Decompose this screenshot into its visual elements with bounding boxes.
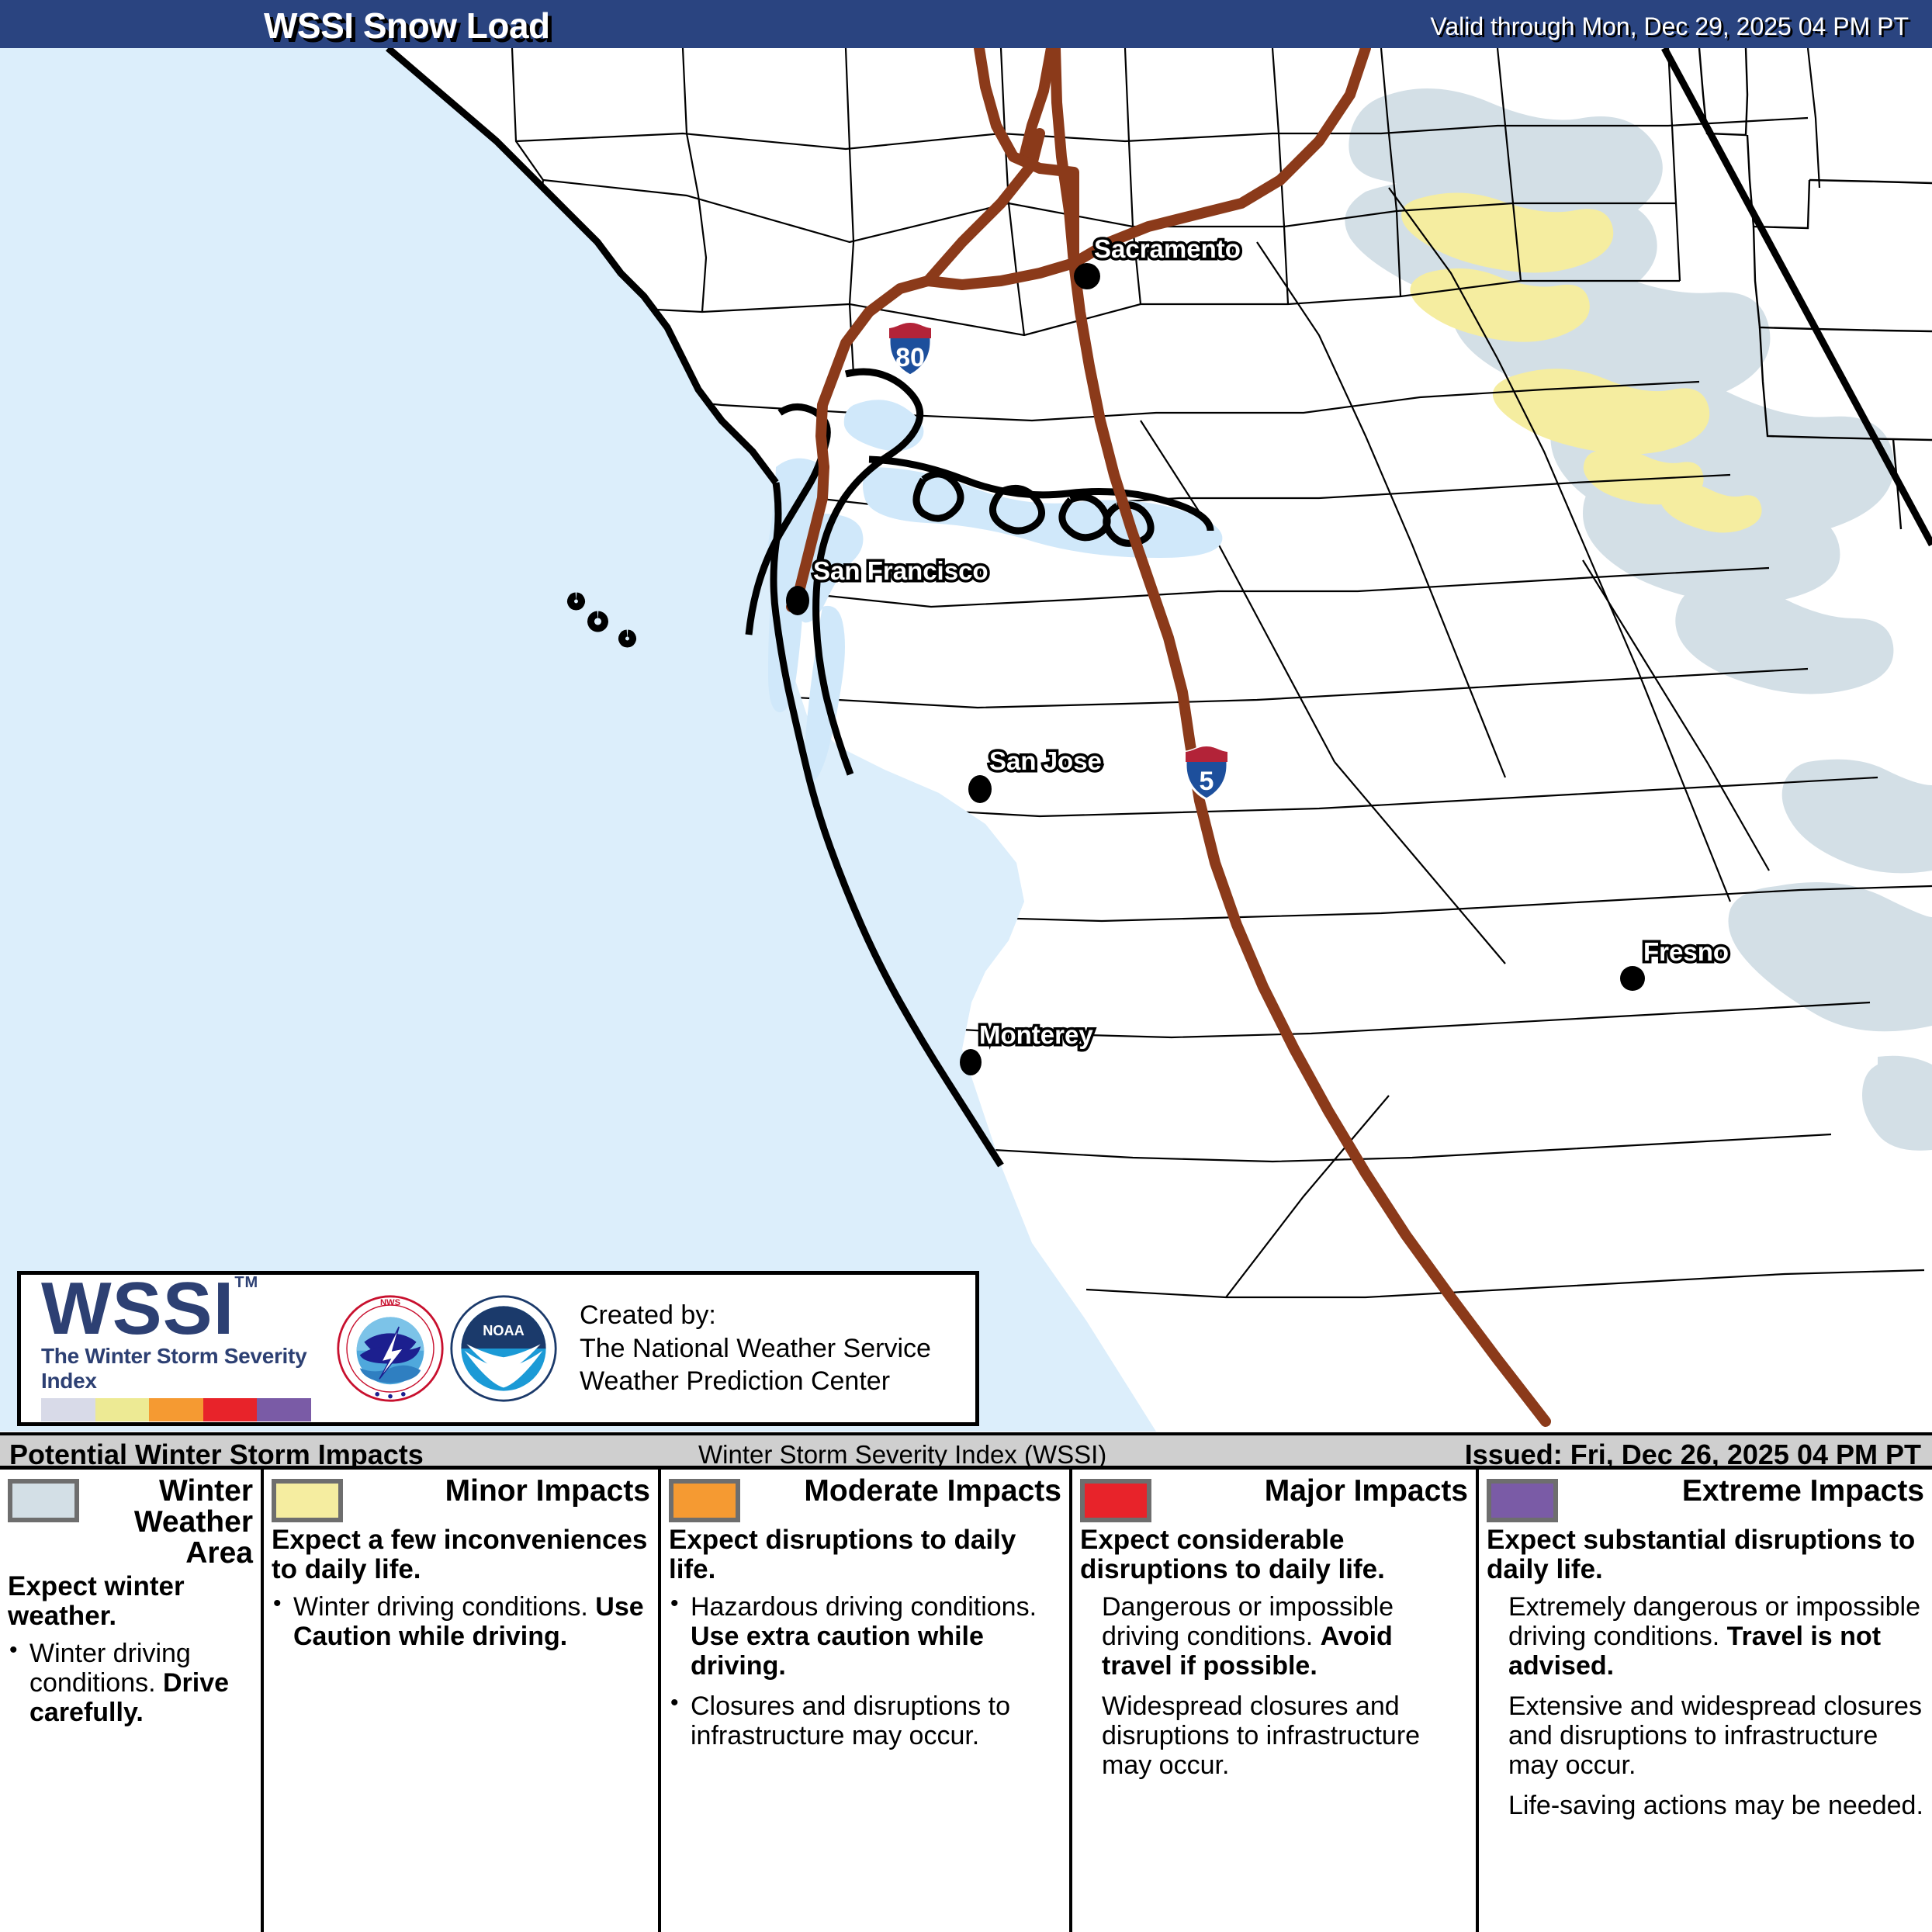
legend-title-major-impacts: Major Impacts bbox=[1159, 1476, 1468, 1507]
city-label-san-jose: San Jose bbox=[989, 746, 1102, 776]
city-label-sacramento: Sacramento bbox=[1094, 234, 1241, 264]
legend-title-minor-impacts: Minor Impacts bbox=[351, 1476, 650, 1507]
status-bar-title: Potential Winter Storm Impacts bbox=[9, 1439, 424, 1471]
legend-swatch-moderate-impacts bbox=[669, 1479, 740, 1522]
list-item: Extremely dangerous or impossible drivin… bbox=[1487, 1592, 1924, 1681]
list-item: Winter driving conditions. Use Caution w… bbox=[272, 1592, 650, 1651]
legend-swatch-major-impacts bbox=[1080, 1479, 1151, 1522]
status-bar: Potential Winter Storm Impacts Winter St… bbox=[0, 1432, 1932, 1470]
legend-bullets-winter-weather-area: Winter driving conditions. Drive careful… bbox=[8, 1639, 253, 1727]
list-item: Winter driving conditions. Drive careful… bbox=[8, 1639, 253, 1727]
legend-lead-minor-impacts: Expect a few inconveniences to daily lif… bbox=[272, 1525, 650, 1584]
city-dot-monterey bbox=[960, 1049, 982, 1075]
created-by-block: Created by: The National Weather Service… bbox=[558, 1299, 931, 1398]
scale-swatch-extreme bbox=[257, 1398, 311, 1421]
created-by-line-3: Weather Prediction Center bbox=[580, 1365, 931, 1398]
legend-title-moderate-impacts: Moderate Impacts bbox=[748, 1476, 1061, 1507]
interstate-shield-80[interactable]: 80 bbox=[886, 321, 934, 377]
scale-swatch-moderate bbox=[149, 1398, 203, 1421]
wssi-credit-box: WSSITM The Winter Storm Severity Index bbox=[17, 1271, 979, 1426]
svg-text:NWS: NWS bbox=[380, 1298, 401, 1307]
legend-column-moderate-impacts[interactable]: Moderate Impacts Expect disruptions to d… bbox=[661, 1470, 1072, 1932]
page-title: WSSI Snow Load bbox=[264, 5, 550, 47]
list-item: Extensive and widespread closures and di… bbox=[1487, 1691, 1924, 1780]
city-dot-sacramento bbox=[1074, 263, 1100, 289]
legend-title-extreme-impacts: Extreme Impacts bbox=[1566, 1476, 1924, 1507]
list-item: Hazardous driving conditions. Use extra … bbox=[669, 1592, 1061, 1681]
legend-bullets-minor-impacts: Winter driving conditions. Use Caution w… bbox=[272, 1592, 650, 1651]
legend-lead-moderate-impacts: Expect disruptions to daily life. bbox=[669, 1525, 1061, 1584]
legend-swatch-extreme-impacts bbox=[1487, 1479, 1558, 1522]
city-label-fresno: Fresno bbox=[1643, 937, 1729, 967]
shield-80-number: 80 bbox=[886, 343, 934, 373]
wssi-wordmark: WSSITM bbox=[41, 1276, 331, 1342]
legend-lead-extreme-impacts: Expect substantial disruptions to daily … bbox=[1487, 1525, 1924, 1584]
city-dot-san-jose bbox=[968, 775, 992, 803]
city-label-san-francisco: San Francisco bbox=[813, 556, 989, 586]
scale-swatch-minor bbox=[95, 1398, 150, 1421]
list-item: Life-saving actions may be needed. bbox=[1487, 1791, 1924, 1820]
trademark-mark: TM bbox=[234, 1274, 258, 1291]
legend-lead-major-impacts: Expect considerable disruptions to daily… bbox=[1080, 1525, 1468, 1584]
legend-column-minor-impacts[interactable]: Minor Impacts Expect a few inconvenience… bbox=[264, 1470, 661, 1932]
wssi-logo: WSSITM The Winter Storm Severity Index bbox=[21, 1276, 331, 1421]
legend-column-extreme-impacts[interactable]: Extreme Impacts Expect substantial disru… bbox=[1479, 1470, 1932, 1932]
legend-bullets-major-impacts: Dangerous or impossible driving conditio… bbox=[1080, 1592, 1468, 1780]
status-bar-subtitle: Winter Storm Severity Index (WSSI) bbox=[698, 1440, 1106, 1470]
map-geometry bbox=[0, 48, 1932, 1432]
agency-seals: NWS NOAA bbox=[331, 1294, 558, 1403]
svg-text:NOAA: NOAA bbox=[483, 1323, 525, 1338]
issued-timestamp: Issued: Fri, Dec 26, 2025 04 PM PT bbox=[1465, 1439, 1921, 1471]
noaa-seal-icon: NOAA bbox=[449, 1294, 558, 1403]
interstate-shield-5[interactable]: 5 bbox=[1182, 745, 1231, 801]
wssi-color-scale bbox=[41, 1398, 311, 1421]
legend-bullets-extreme-impacts: Extremely dangerous or impossible drivin… bbox=[1487, 1592, 1924, 1821]
list-item: Dangerous or impossible driving conditio… bbox=[1080, 1592, 1468, 1681]
legend-bullets-moderate-impacts: Hazardous driving conditions. Use extra … bbox=[669, 1592, 1061, 1750]
list-item: Widespread closures and disruptions to i… bbox=[1080, 1691, 1468, 1780]
wssi-tagline: The Winter Storm Severity Index bbox=[41, 1344, 331, 1394]
list-item: Closures and disruptions to infrastructu… bbox=[669, 1691, 1061, 1750]
scale-swatch-winter-weather bbox=[41, 1398, 95, 1421]
legend-lead-winter-weather-area: Expect winter weather. bbox=[8, 1572, 253, 1631]
legend-swatch-winter-weather-area bbox=[8, 1479, 79, 1522]
impact-legend: Winter Weather Area Expect winter weathe… bbox=[0, 1470, 1932, 1932]
city-dot-san-francisco bbox=[786, 586, 809, 615]
map-canvas[interactable]: Sacramento San Francisco San Jose Fresno… bbox=[0, 48, 1932, 1432]
valid-through-text: Valid through Mon, Dec 29, 2025 04 PM PT bbox=[1430, 12, 1909, 41]
legend-swatch-minor-impacts bbox=[272, 1479, 343, 1522]
nws-seal-icon: NWS bbox=[336, 1294, 445, 1403]
shield-5-number: 5 bbox=[1182, 767, 1231, 797]
header-bar: WSSI Snow Load Valid through Mon, Dec 29… bbox=[0, 0, 1932, 48]
legend-column-major-impacts[interactable]: Major Impacts Expect considerable disrup… bbox=[1072, 1470, 1479, 1932]
legend-title-winter-weather-area: Winter Weather Area bbox=[87, 1476, 253, 1569]
city-label-monterey: Monterey bbox=[979, 1020, 1093, 1050]
legend-column-winter-weather-area[interactable]: Winter Weather Area Expect winter weathe… bbox=[0, 1470, 264, 1932]
created-by-line-1: Created by: bbox=[580, 1299, 931, 1332]
wssi-snow-load-page: WSSI Snow Load Valid through Mon, Dec 29… bbox=[0, 0, 1932, 1932]
created-by-line-2: The National Weather Service bbox=[580, 1332, 931, 1366]
city-dot-fresno bbox=[1620, 966, 1645, 991]
scale-swatch-major bbox=[203, 1398, 258, 1421]
